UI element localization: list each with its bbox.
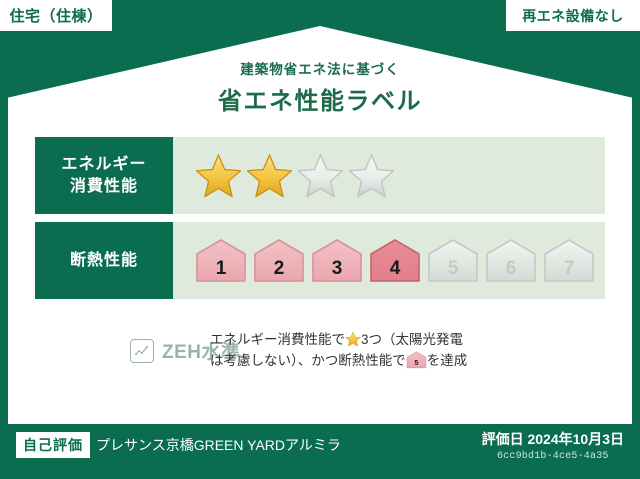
chart-icon bbox=[130, 339, 154, 363]
star-rating bbox=[173, 137, 605, 214]
star-3 bbox=[297, 153, 344, 198]
svg-text:7: 7 bbox=[564, 258, 575, 279]
star-1 bbox=[195, 153, 242, 198]
star-2 bbox=[246, 153, 293, 198]
badge-renewable-equipment: 再エネ設備なし bbox=[506, 0, 640, 31]
row-insulation: 断熱性能 1234567 bbox=[34, 221, 606, 300]
insulation-scale: 1234567 bbox=[173, 222, 605, 299]
insulation-level-4: 4 bbox=[369, 238, 421, 284]
inline-house-icon: 5 bbox=[406, 351, 427, 369]
insulation-level-3: 3 bbox=[311, 238, 363, 284]
row-energy-label-line1: エネルギー bbox=[61, 154, 146, 175]
inline-star-icon bbox=[345, 331, 361, 347]
self-evaluation-badge: 自己評価 bbox=[16, 432, 90, 458]
evaluation-date: 評価日 2024年10月3日 bbox=[482, 429, 624, 449]
svg-text:5: 5 bbox=[414, 358, 418, 367]
insulation-level-2: 2 bbox=[253, 238, 305, 284]
star-4 bbox=[348, 153, 395, 198]
insulation-level-7: 7 bbox=[543, 238, 595, 284]
svg-text:5: 5 bbox=[448, 258, 459, 279]
zeh-desc-part1: エネルギー消費性能で bbox=[210, 332, 345, 347]
zeh-section: ZEH水準 エネルギー消費性能で3つ（太陽光発電 は考慮しない）、かつ断熱性能で… bbox=[34, 330, 606, 372]
svg-text:2: 2 bbox=[274, 258, 285, 279]
insulation-level-5: 5 bbox=[427, 238, 479, 284]
footer-right: 評価日 2024年10月3日 6cc9bd1b-4ce5-4a35 bbox=[482, 429, 624, 462]
svg-text:3: 3 bbox=[332, 258, 343, 279]
row-energy-consumption: エネルギー 消費性能 bbox=[34, 136, 606, 215]
zeh-description: エネルギー消費性能で3つ（太陽光発電 は考慮しない）、かつ断熱性能で5を達成 bbox=[204, 330, 606, 372]
building-name: プレサンス京橋GREEN YARDアルミラ bbox=[96, 435, 341, 455]
svg-text:1: 1 bbox=[216, 258, 227, 279]
performance-rows: エネルギー 消費性能 断熱性能 1234567 bbox=[34, 136, 606, 306]
title-subtitle: 建築物省エネ法に基づく bbox=[0, 58, 640, 78]
row-energy-label-line2: 消費性能 bbox=[70, 176, 138, 197]
label-id: 6cc9bd1b-4ce5-4a35 bbox=[482, 451, 624, 462]
row-insulation-label: 断熱性能 bbox=[35, 222, 173, 299]
svg-text:4: 4 bbox=[390, 258, 401, 279]
title-block: 建築物省エネ法に基づく 省エネ性能ラベル bbox=[0, 58, 640, 116]
badge-housing-type: 住宅（住棟） bbox=[0, 0, 112, 31]
row-energy-label: エネルギー 消費性能 bbox=[35, 137, 173, 214]
zeh-desc-part3: を達成 bbox=[427, 353, 468, 368]
svg-text:6: 6 bbox=[506, 258, 517, 279]
page-title: 省エネ性能ラベル bbox=[0, 81, 640, 116]
insulation-level-6: 6 bbox=[485, 238, 537, 284]
energy-performance-label: 住宅（住棟） 再エネ設備なし 建築物省エネ法に基づく 省エネ性能ラベル エネルギ… bbox=[0, 0, 640, 479]
footer: 自己評価 プレサンス京橋GREEN YARDアルミラ 評価日 2024年10月3… bbox=[0, 424, 640, 479]
zeh-mark: ZEH水準 bbox=[34, 337, 204, 364]
footer-left: 自己評価 プレサンス京橋GREEN YARDアルミラ bbox=[16, 432, 341, 458]
zeh-desc-star-count: 3つ（太陽光発電 bbox=[361, 332, 463, 347]
zeh-desc-part2: は考慮しない）、かつ断熱性能で bbox=[210, 353, 406, 368]
insulation-level-1: 1 bbox=[195, 238, 247, 284]
row-insulation-label-line1: 断熱性能 bbox=[70, 250, 138, 271]
